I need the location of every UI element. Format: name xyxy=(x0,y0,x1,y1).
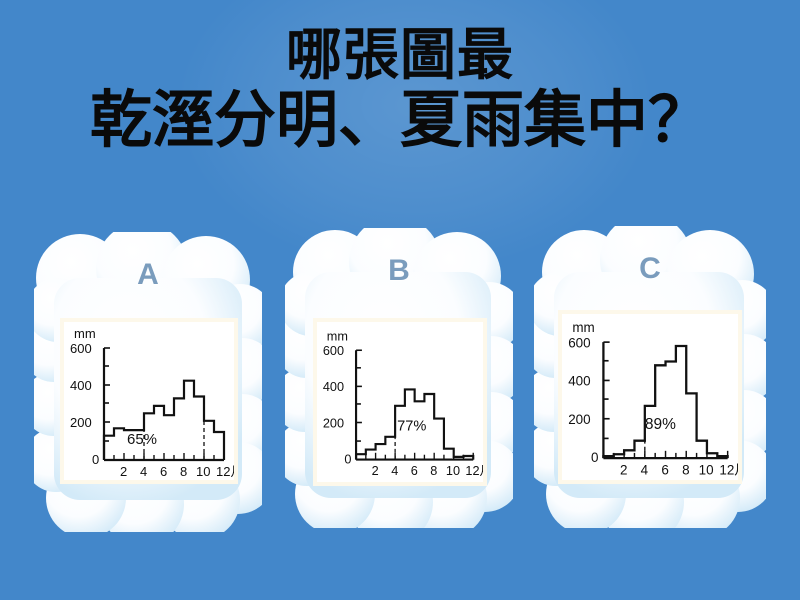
title-line-1: 哪張圖最 xyxy=(0,26,800,83)
x-axis-a: 2 4 6 8 10 12月 xyxy=(104,453,234,479)
y-axis-b: 600 400 200 0 xyxy=(323,344,362,466)
card-letter-c: C xyxy=(534,252,766,286)
option-card-c[interactable]: C mm 600 400 200 0 xyxy=(534,226,766,528)
chart-panel-a: mm 600 400 200 0 xyxy=(60,318,238,484)
x-tick-4-c: 4 xyxy=(641,463,649,478)
card-letter-a: A xyxy=(34,258,262,292)
y-tick-200-c: 200 xyxy=(568,412,590,427)
precipitation-chart-c: mm 600 400 200 0 xyxy=(562,314,738,480)
title-line-2: 乾溼分明、夏雨集中？ xyxy=(0,89,800,152)
y-tick-400-b: 400 xyxy=(323,380,344,394)
chart-plot-area-c: mm 600 400 200 0 xyxy=(562,314,738,480)
y-tick-600-b: 600 xyxy=(323,344,344,358)
x-tick-10-a: 10 xyxy=(196,464,210,479)
y-axis-unit-c: mm xyxy=(572,320,594,335)
chart-panel-c: mm 600 400 200 0 xyxy=(558,310,742,484)
x-tick-4-a: 4 xyxy=(140,464,147,479)
x-tick-6-c: 6 xyxy=(661,463,668,478)
annotation-b: 77% xyxy=(397,418,426,434)
option-card-a[interactable]: A mm 600 400 200 0 xyxy=(34,232,262,532)
card-letter-b: B xyxy=(285,254,513,288)
x-tick-12-c: 12月 xyxy=(719,463,738,478)
annotation-c: 89% xyxy=(645,416,676,433)
x-tick-8-b: 8 xyxy=(430,464,437,478)
y-tick-200-a: 200 xyxy=(70,415,92,430)
y-tick-0-c: 0 xyxy=(591,450,598,465)
x-tick-6-a: 6 xyxy=(160,464,167,479)
precipitation-chart-a: mm 600 400 200 0 xyxy=(64,322,234,480)
chart-plot-area-a: mm 600 400 200 0 xyxy=(64,322,234,480)
y-tick-400-a: 400 xyxy=(70,378,92,393)
y-tick-600-a: 600 xyxy=(70,341,92,356)
y-tick-600-c: 600 xyxy=(568,335,590,350)
x-tick-12-b: 12月 xyxy=(465,464,483,478)
step-line-a xyxy=(104,381,224,460)
x-tick-12-a: 12月 xyxy=(216,464,234,479)
y-axis-unit-a: mm xyxy=(74,326,96,341)
precipitation-chart-b: mm 600 400 200 0 xyxy=(317,322,483,482)
y-tick-0-a: 0 xyxy=(92,452,99,467)
y-tick-400-c: 400 xyxy=(568,374,590,389)
chart-panel-b: mm 600 400 200 0 xyxy=(313,318,487,486)
option-card-b[interactable]: B mm 600 400 200 0 xyxy=(285,228,513,528)
y-axis-unit-b: mm xyxy=(327,329,348,343)
y-tick-0-b: 0 xyxy=(344,453,351,467)
x-tick-8-c: 8 xyxy=(682,463,689,478)
step-line-c xyxy=(603,346,727,458)
x-tick-10-c: 10 xyxy=(699,463,714,478)
x-tick-2-c: 2 xyxy=(620,463,627,478)
chart-plot-area-b: mm 600 400 200 0 xyxy=(317,322,483,482)
y-axis-c: 600 400 200 0 xyxy=(568,335,609,465)
x-tick-10-b: 10 xyxy=(446,464,460,478)
x-tick-4-b: 4 xyxy=(391,464,398,478)
y-tick-200-b: 200 xyxy=(323,416,344,430)
x-tick-2-b: 2 xyxy=(372,464,379,478)
page-title: 哪張圖最 乾溼分明、夏雨集中？ xyxy=(0,26,800,152)
x-tick-8-a: 8 xyxy=(180,464,187,479)
x-tick-6-b: 6 xyxy=(411,464,418,478)
slide-canvas: 哪張圖最 乾溼分明、夏雨集中？ A xyxy=(0,0,800,600)
annotation-a: 65% xyxy=(127,431,157,448)
x-tick-2-a: 2 xyxy=(120,464,127,479)
